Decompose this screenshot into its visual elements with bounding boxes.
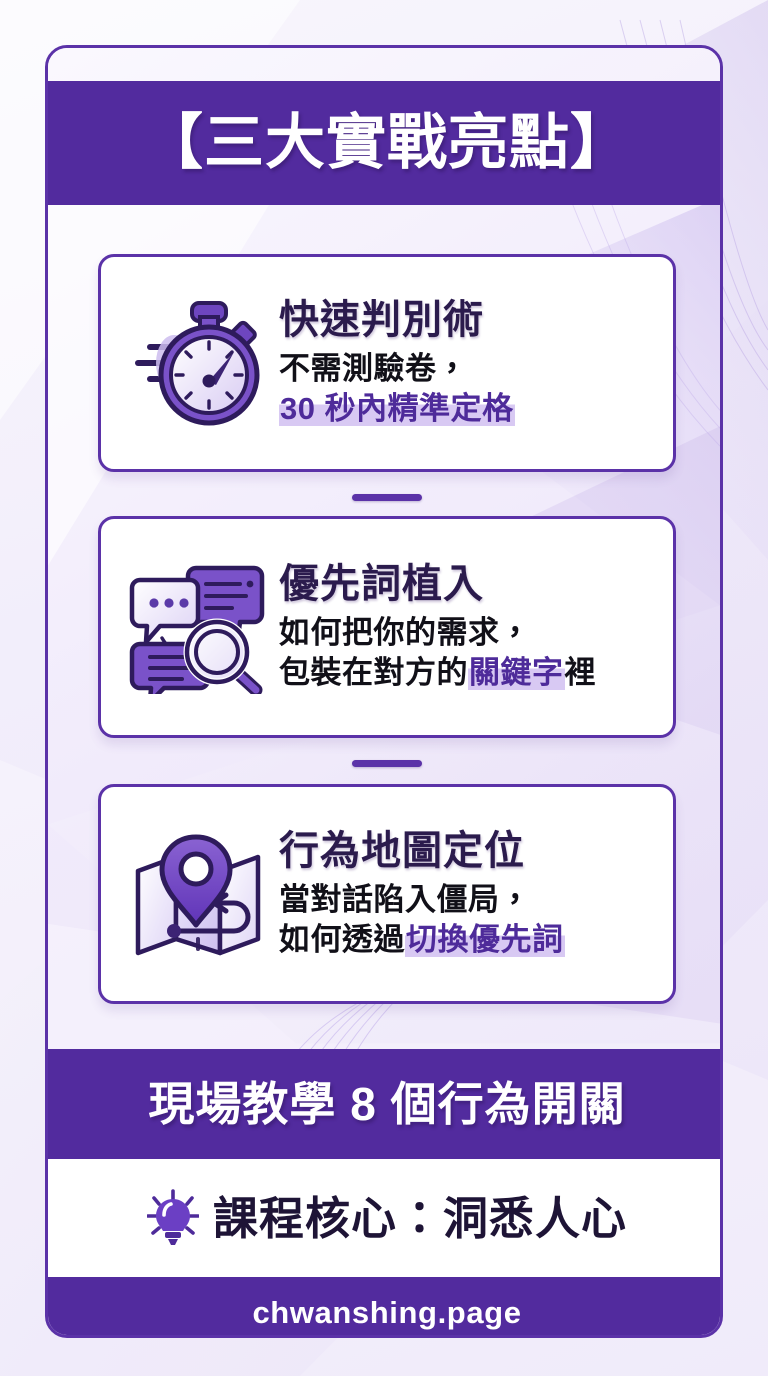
feature-card-2-tail: 裡 [565,655,597,690]
footer-banner-text: 現場教學 8 個行為開關 [148,1081,625,1127]
feature-card-2-line-2: 包裝在對方的關鍵字裡 [279,653,657,693]
feature-card-2-lead: 包裝在對方的 [279,655,468,690]
map-pin-route-icon-svg [130,827,266,961]
feature-card-3-line-2: 如何透過切換優先詞 [279,920,657,960]
feature-card-2-highlight: 關鍵字 [468,655,565,690]
feature-card-1-body: 快速判別術 不需測驗卷， 30 秒內精準定格 [277,297,657,428]
feature-card-2[interactable]: 優先詞植入 如何把你的需求， 包裝在對方的關鍵字裡 [98,516,676,738]
feature-card-1-line-2: 30 秒內精準定格 [279,389,657,429]
feature-card-2-body: 優先詞植入 如何把你的需求， 包裝在對方的關鍵字裡 [277,561,657,692]
feature-card-3-lead: 如何透過 [279,922,405,957]
stopwatch-icon-svg [130,297,266,429]
page-title: 【三大實戰亮點】 [143,113,631,173]
feature-card-1-highlight: 30 秒內精準定格 [279,391,515,426]
feature-card-3[interactable]: 行為地圖定位 當對話陷入僵局， 如何透過切換優先詞 [98,784,676,1004]
feature-card-3-body: 行為地圖定位 當對話陷入僵局， 如何透過切換優先詞 [277,828,657,959]
chat-search-icon-svg [128,560,268,694]
feature-card-1[interactable]: 快速判別術 不需測驗卷， 30 秒內精準定格 [98,254,676,472]
poster-inner: 【三大實戰亮點】 [48,48,720,1335]
map-pin-route-icon [119,827,277,961]
feature-card-3-heading: 行為地圖定位 [279,828,657,874]
poster-frame: 【三大實戰亮點】 [45,45,723,1338]
lightbulb-icon-svg [147,1189,199,1247]
site-url[interactable]: chwanshing.page [252,1297,521,1328]
footer-banner: 現場教學 8 個行為開關 [48,1049,720,1159]
card-divider-2 [352,760,422,767]
feature-card-list: 快速判別術 不需測驗卷， 30 秒內精準定格 [48,211,720,1049]
feature-card-1-line-1: 不需測驗卷， [279,349,657,389]
feature-card-2-heading: 優先詞植入 [279,561,657,607]
card-divider-1 [352,494,422,501]
feature-card-2-line-1: 如何把你的需求， [279,613,657,653]
url-band[interactable]: chwanshing.page [48,1277,720,1335]
course-core-text: 課程核心：洞悉人心 [213,1196,627,1241]
feature-card-1-heading: 快速判別術 [279,297,657,343]
lightbulb-icon [147,1189,199,1247]
chat-search-icon [119,560,277,694]
feature-card-3-highlight: 切換優先詞 [405,922,565,957]
course-core-band: 課程核心：洞悉人心 [48,1159,720,1277]
stopwatch-icon [119,297,277,429]
header-banner: 【三大實戰亮點】 [48,81,720,205]
feature-card-3-line-1: 當對話陷入僵局， [279,880,657,920]
